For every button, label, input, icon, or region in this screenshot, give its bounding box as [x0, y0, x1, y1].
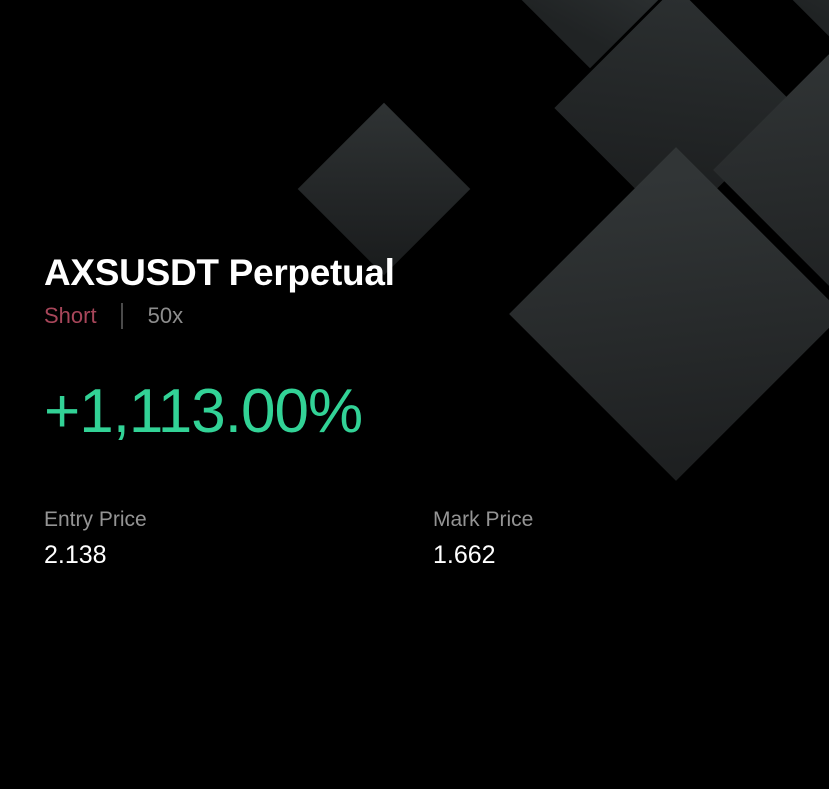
leverage-label: 50x — [148, 305, 183, 327]
entry-price-block: Entry Price 2.138 — [44, 509, 147, 568]
roi-percentage: +1,113.00% — [44, 379, 362, 444]
entry-price-value: 2.138 — [44, 543, 147, 568]
pnl-share-card: AXSUSDT Perpetual Short 50x +1,113.00% E… — [0, 0, 829, 789]
entry-price-label: Entry Price — [44, 509, 147, 530]
card-content: AXSUSDT Perpetual Short 50x +1,113.00% E… — [44, 0, 804, 789]
position-meta-row: Short 50x — [44, 301, 183, 331]
meta-divider — [121, 303, 123, 329]
mark-price-block: Mark Price 1.662 — [433, 509, 533, 568]
mark-price-value: 1.662 — [433, 543, 533, 568]
page-title: AXSUSDT Perpetual — [44, 253, 395, 294]
status-badge-position-side: Short — [44, 305, 97, 327]
mark-price-label: Mark Price — [433, 509, 533, 530]
